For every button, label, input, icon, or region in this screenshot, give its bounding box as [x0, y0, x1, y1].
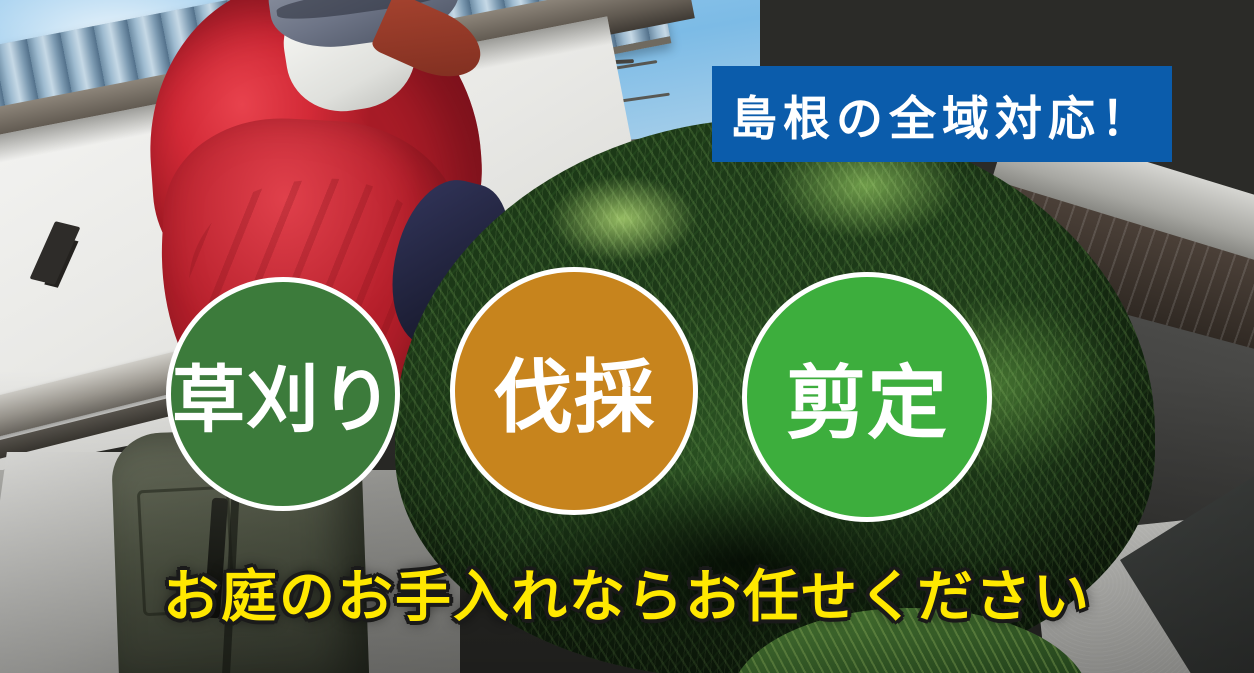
tagline-text: お庭のお手入れならお任せください — [163, 565, 1091, 628]
service-area-badge: 島根の全域対応！ — [712, 66, 1172, 162]
service-circle-sentei[interactable]: 剪定 — [742, 272, 992, 522]
service-area-badge-label: 島根の全域対応！ — [730, 80, 1154, 149]
hero-banner: 島根の全域対応！ 草刈り 伐採 剪定 お庭のお手入れならお任せください — [0, 0, 1254, 673]
service-circle-bassai[interactable]: 伐採 — [450, 267, 698, 515]
service-circle-kusakari-label: 草刈り — [172, 341, 394, 447]
service-circle-sentei-label: 剪定 — [786, 339, 948, 455]
service-circle-kusakari[interactable]: 草刈り — [166, 277, 400, 511]
tagline: お庭のお手入れならお任せください — [0, 552, 1254, 633]
service-circle-bassai-label: 伐採 — [493, 333, 655, 449]
